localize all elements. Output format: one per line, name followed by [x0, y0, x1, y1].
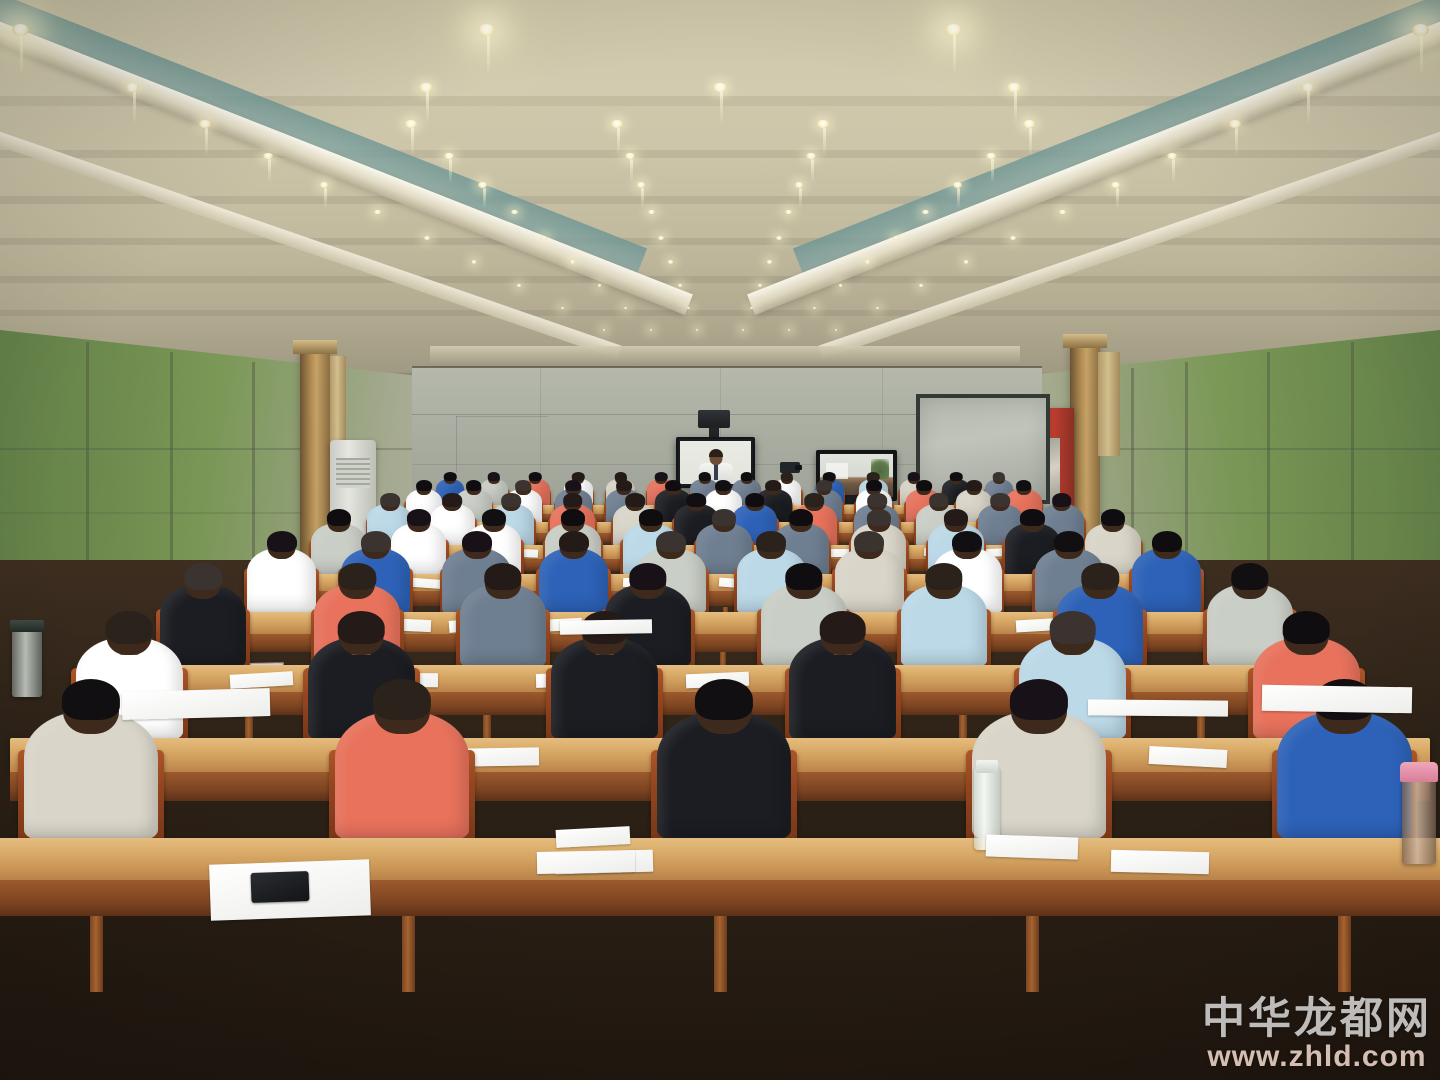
- attendee-hair: [361, 531, 391, 552]
- ceiling-downlight: [668, 260, 673, 263]
- attendee-hair: [563, 493, 583, 507]
- attendee: [247, 528, 316, 614]
- attendee-hair: [785, 563, 822, 590]
- attendee: [460, 560, 546, 667]
- ceiling-downlight-flare: [411, 128, 414, 156]
- attendee-hair: [1081, 563, 1118, 590]
- attendee-hair: [1152, 531, 1182, 552]
- ceiling-downlight: [611, 120, 623, 128]
- attendee-hair: [106, 611, 153, 644]
- desk-leg: [1338, 916, 1351, 992]
- ceiling-downlight: [742, 329, 744, 331]
- pillar-left-cap: [293, 340, 337, 354]
- attendee-hair: [339, 563, 376, 590]
- attendee-hair: [616, 480, 632, 491]
- attendee-hair: [1231, 563, 1268, 590]
- ceiling-downlight: [1023, 120, 1035, 128]
- ceiling-downlight: [405, 120, 417, 128]
- ceiling-downlight: [817, 120, 829, 128]
- ceiling-downlight: [835, 329, 837, 331]
- ceiling-downlight: [478, 182, 486, 188]
- attendee-hair: [1283, 611, 1330, 644]
- ceiling-downlight: [1111, 182, 1119, 188]
- ceiling-downlight: [1412, 24, 1429, 36]
- ceiling-downlight: [424, 236, 430, 240]
- ceiling-downlight-flare: [1029, 128, 1032, 156]
- attendee-hair: [916, 480, 932, 491]
- ceiling-downlight: [813, 307, 816, 309]
- attendee-hair: [1010, 679, 1068, 720]
- document-on-desk: [1088, 699, 1228, 716]
- attendee: [901, 560, 987, 667]
- ceiling-downlight: [776, 236, 782, 240]
- desk-leg: [402, 916, 415, 992]
- ceiling-camera-box: [698, 410, 730, 428]
- attendee-hair: [804, 493, 824, 507]
- ceiling-downlight: [678, 284, 682, 287]
- ceiling: [0, 0, 1440, 392]
- ceiling-downlight-flare: [953, 35, 956, 76]
- ceiling-downlight-flare: [617, 128, 620, 156]
- attendee: [539, 528, 608, 614]
- ceiling-downlight: [637, 182, 645, 188]
- attendee-hair: [819, 611, 866, 644]
- attendee-hair: [765, 480, 781, 491]
- attendee-hair: [665, 480, 681, 491]
- attendee-hair: [991, 493, 1011, 507]
- glass-tumbler: [12, 625, 42, 697]
- attendee: [789, 607, 897, 741]
- ceiling-downlight: [919, 284, 923, 287]
- document-on-desk: [986, 834, 1079, 859]
- ceiling-downlight-flare: [483, 188, 486, 208]
- attendee-hair: [944, 509, 968, 526]
- door-frame-left: [330, 356, 346, 452]
- open-notebook: [1262, 685, 1412, 714]
- attendee-hair: [1020, 509, 1044, 526]
- ceiling-downlight: [785, 210, 792, 215]
- attendee: [335, 673, 469, 840]
- ceiling-downlight: [767, 260, 772, 263]
- attendee-hair: [561, 509, 585, 526]
- ceiling-downlight-flare: [1235, 128, 1238, 156]
- attendee-hair: [482, 509, 506, 526]
- attendee-hair: [327, 509, 351, 526]
- conference-room-photo: 巴村镇 ··· 中华龙都网 www.zhld.com: [0, 0, 1440, 1080]
- document-on-desk: [1110, 849, 1209, 874]
- conference-desk-front: [300, 591, 1150, 606]
- desk-leg: [714, 916, 727, 992]
- tumbler-lid: [10, 620, 44, 632]
- attendee-hair: [380, 493, 400, 507]
- attendee-hair: [407, 509, 431, 526]
- attendee-hair: [816, 480, 832, 491]
- document-on-desk: [537, 850, 635, 874]
- attendee-hair: [629, 563, 666, 590]
- ceiling-downlight: [839, 284, 843, 287]
- camera-lens: [795, 465, 802, 470]
- attendee-hair: [756, 531, 786, 552]
- smartphone: [250, 871, 309, 903]
- ceiling-downlight: [945, 24, 962, 36]
- attendee-hair: [1054, 531, 1084, 552]
- attendee-hair: [338, 611, 385, 644]
- attendee-hair: [656, 531, 686, 552]
- desk-leg: [90, 916, 103, 992]
- ceiling-downlight-flare: [20, 35, 23, 76]
- ceiling-downlight: [758, 284, 762, 287]
- attendee-hair: [484, 563, 521, 590]
- ceiling-downlight: [658, 236, 664, 240]
- ceiling-soffit: [430, 346, 1020, 366]
- attendee-hair: [740, 472, 753, 481]
- desk-leg: [1026, 916, 1039, 992]
- attendee-hair: [267, 531, 297, 552]
- attendee-hair: [443, 493, 463, 507]
- pillar-right-cap: [1063, 334, 1107, 348]
- attendee-hair: [966, 480, 982, 491]
- ceiling-downlight-flare: [720, 91, 723, 124]
- attendee-hair: [62, 679, 120, 720]
- ceiling-downlight-flare: [823, 128, 826, 156]
- ceiling-downlight-flare: [268, 159, 271, 183]
- ceiling-downlight: [1059, 210, 1066, 215]
- ceiling-downlight: [687, 307, 690, 309]
- attendee-hair: [929, 493, 949, 507]
- ceiling-downlight: [603, 329, 605, 331]
- ceiling-downlight-flare: [957, 188, 960, 208]
- door-frame-right: [1098, 352, 1120, 456]
- ceiling-downlight: [478, 24, 495, 36]
- ceiling-downlight: [624, 307, 627, 309]
- ceiling-downlight: [320, 182, 328, 188]
- ceiling-downlight: [472, 260, 477, 263]
- ceiling-downlight-flare: [641, 188, 644, 208]
- attendee-hair: [559, 531, 589, 552]
- ceiling-downlight-flare: [630, 159, 633, 183]
- ceiling-downlight-flare: [799, 188, 802, 208]
- attendee-hair: [501, 493, 521, 507]
- ceiling-downlight: [541, 236, 547, 240]
- attendee-hair: [625, 493, 645, 507]
- ceiling-downlight-flare: [1014, 91, 1017, 124]
- attendee-hair: [712, 509, 736, 526]
- ceiling-downlight: [12, 24, 29, 36]
- attendee: [657, 673, 791, 840]
- ceiling-downlight: [1010, 236, 1016, 240]
- ceiling-downlight: [865, 260, 870, 263]
- document-on-desk: [560, 619, 652, 635]
- ceiling-downlight-flare: [991, 159, 994, 183]
- ceiling-downlight-flare: [324, 188, 327, 208]
- ceiling-downlight: [788, 329, 790, 331]
- air-conditioner-vent: [336, 458, 370, 488]
- attendee-hair: [867, 493, 887, 507]
- ceiling-downlight-flare: [449, 159, 452, 183]
- attendee-hair: [373, 679, 431, 720]
- attendee-hair: [638, 509, 662, 526]
- ceiling-downlight-flare: [487, 35, 490, 76]
- travel-tumbler-cap: [1400, 762, 1438, 782]
- ceiling-downlight-flare: [205, 128, 208, 156]
- attendee-hair: [866, 480, 882, 491]
- attendee-hair: [695, 679, 753, 720]
- attendee-hair: [993, 472, 1006, 481]
- attendee-hair: [184, 563, 221, 590]
- ceiling-downlight: [1229, 120, 1241, 128]
- attendee-hair: [416, 480, 432, 491]
- attendee-hair: [952, 531, 982, 552]
- ceiling-downlight-flare: [1116, 188, 1119, 208]
- ceiling-downlight: [876, 307, 879, 309]
- attendee-hair: [686, 493, 706, 507]
- ceiling-downlight-flare: [1172, 159, 1175, 183]
- ceiling-downlight: [598, 284, 602, 287]
- ceiling-downlight-flare: [1420, 35, 1423, 76]
- ceiling-downlight: [964, 260, 969, 263]
- travel-tumbler: [1402, 780, 1436, 864]
- ceiling-downlight: [696, 329, 698, 331]
- attendee-hair: [854, 531, 884, 552]
- ceiling-downlight: [648, 210, 655, 215]
- ceiling-downlight: [750, 307, 753, 309]
- water-bottle-cap: [976, 760, 998, 773]
- attendee-hair: [462, 531, 492, 552]
- ceiling-downlight-flare: [1307, 91, 1310, 124]
- attendee-hair: [1016, 480, 1032, 491]
- ceiling-downlight: [374, 210, 381, 215]
- attendee-hair: [925, 563, 962, 590]
- attendee-hair: [466, 480, 482, 491]
- remote-speaker-hair: [709, 449, 723, 457]
- ceiling-downlight: [795, 182, 803, 188]
- ceiling-downlight: [517, 284, 521, 287]
- ceiling-downlight-flare: [133, 91, 136, 124]
- ceiling-downlight: [893, 236, 899, 240]
- attendee-hair: [1101, 509, 1125, 526]
- ceiling-downlight: [570, 260, 575, 263]
- attendee-hair: [715, 480, 731, 491]
- ceiling-downlight: [561, 307, 564, 309]
- ceiling-downlight: [650, 329, 652, 331]
- attendee-hair: [1049, 611, 1096, 644]
- attendee-hair: [565, 480, 581, 491]
- open-notebook: [122, 688, 271, 720]
- attendee-hair: [1052, 493, 1072, 507]
- attendee-hair: [789, 509, 813, 526]
- ceiling-downlight-flare: [426, 91, 429, 124]
- attendee-hair: [867, 509, 891, 526]
- ceiling-downlight-flare: [811, 159, 814, 183]
- attendee-hair: [515, 480, 531, 491]
- attendee-hair: [745, 493, 765, 507]
